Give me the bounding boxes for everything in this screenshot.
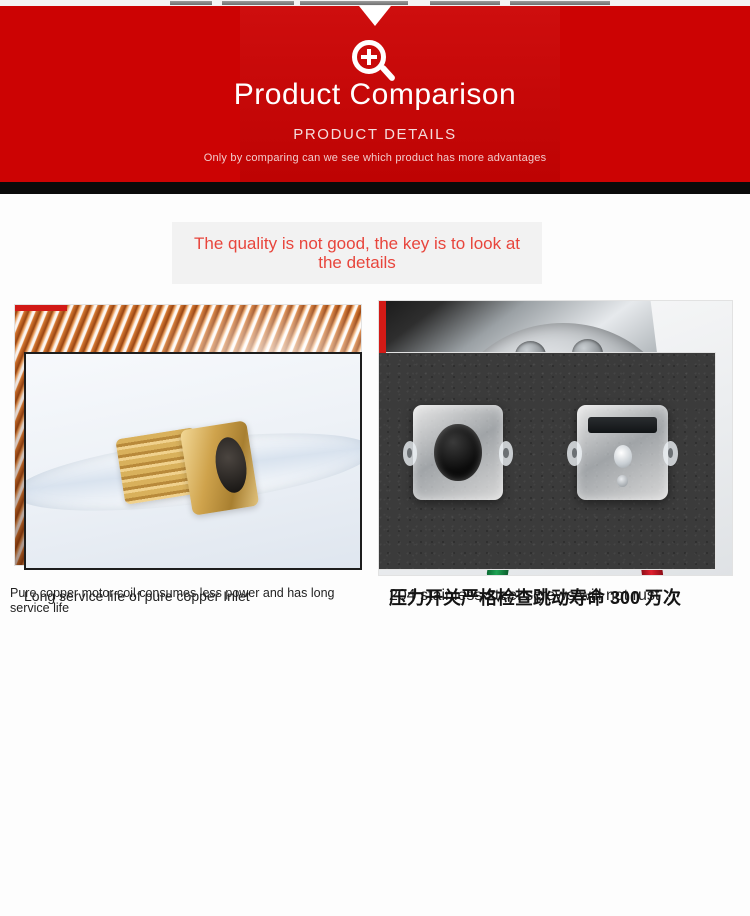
- magnifier-plus-vertical: [367, 49, 371, 65]
- switch-mount-ear: [499, 441, 514, 466]
- panel-caption: 压力开关严格检查跳动寿命 300 万次: [389, 588, 749, 610]
- hero-tagline: Only by comparing can we see which produ…: [0, 152, 750, 164]
- top-strip-segment: [222, 1, 294, 5]
- panel-image-frame: [24, 352, 362, 570]
- switch-rivet: [617, 475, 628, 487]
- pressure-switch-back: [577, 405, 668, 500]
- switch-adjust-post: [614, 445, 632, 468]
- switch-contact-bar: [588, 417, 657, 433]
- hero-kicker: PRODUCT DETAILS: [0, 126, 750, 143]
- hero-notch-triangle: [359, 6, 391, 26]
- switch-mount-ear: [403, 441, 418, 466]
- subtitle-text: The quality is not good, the key is to l…: [172, 234, 542, 272]
- brass-copper-inlet-fitting-photo: [26, 354, 360, 568]
- product-comparison-page: Product Comparison PRODUCT DETAILS Only …: [0, 0, 750, 916]
- subtitle-plate: The quality is not good, the key is to l…: [172, 222, 542, 284]
- panel-accent-bar: [15, 305, 67, 311]
- top-strip-segment: [510, 1, 610, 5]
- product-panel-grid: Pure copper motor coil consumes less pow…: [0, 296, 750, 352]
- switch-mount-ear: [663, 441, 678, 466]
- pressure-switch-front: [413, 405, 504, 500]
- panel-caption: Long service life of pure copper Inlet: [24, 588, 364, 605]
- transparent-pressure-switches-photo: [379, 353, 715, 569]
- top-strip-segment: [300, 1, 408, 5]
- hero-banner: Product Comparison PRODUCT DETAILS Only …: [0, 6, 750, 182]
- hero-bottom-rule: [0, 182, 750, 194]
- switch-mount-ear: [567, 441, 582, 466]
- switch-port-bore: [434, 424, 481, 481]
- top-strip-segment: [430, 1, 500, 5]
- hero-title: Product Comparison: [0, 78, 750, 112]
- top-strip-segment: [170, 1, 212, 5]
- panel-accent-bar: [379, 301, 386, 353]
- panel-image-frame: [378, 352, 716, 570]
